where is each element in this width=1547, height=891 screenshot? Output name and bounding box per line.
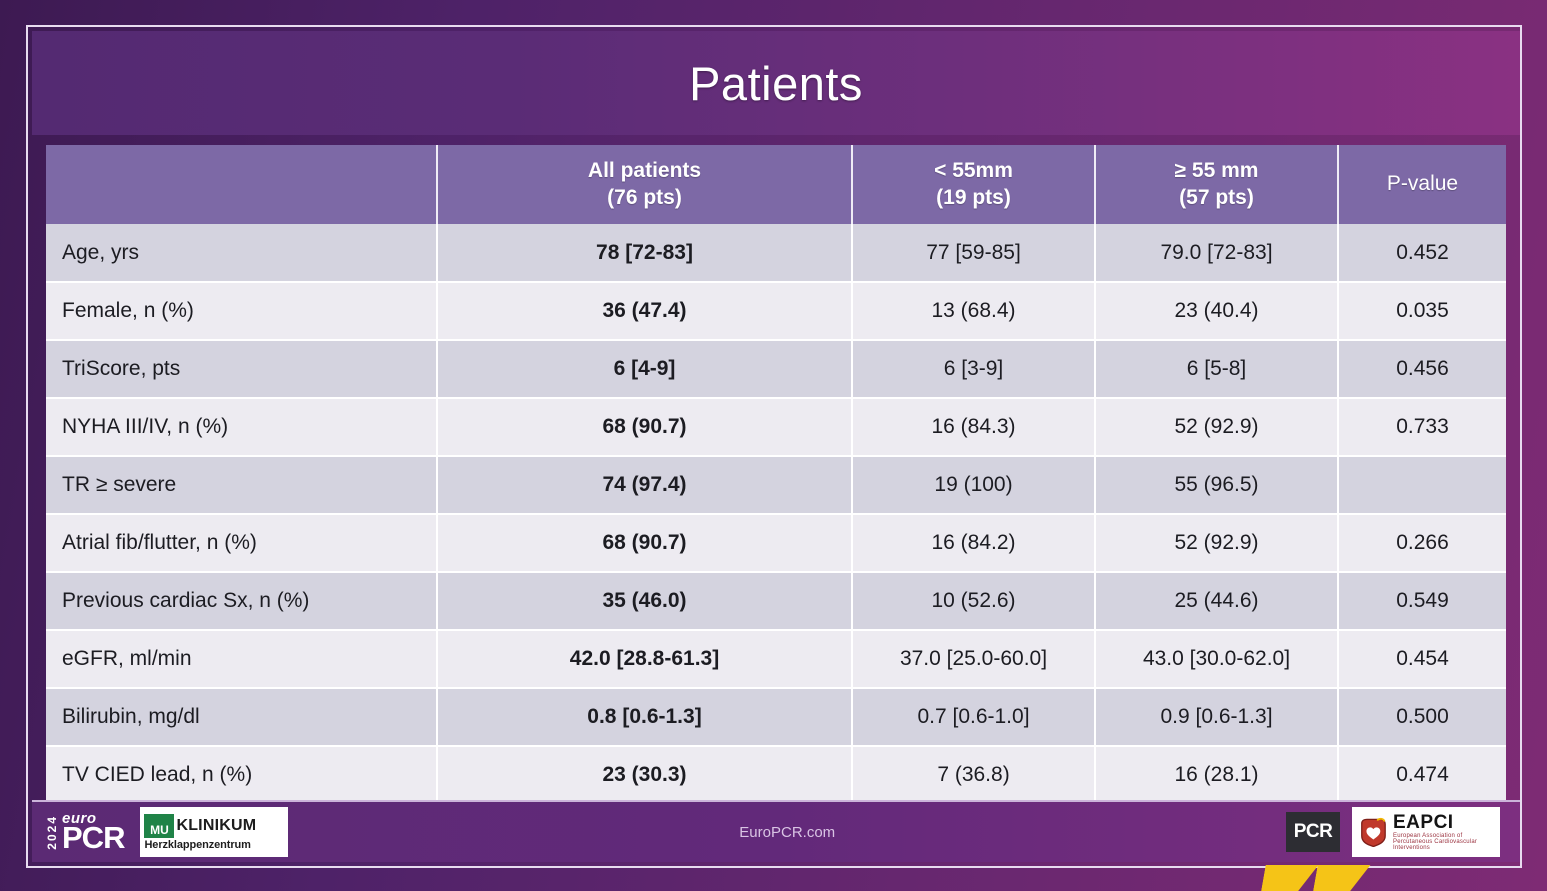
footer-website-url: EuroPCR.com <box>288 824 1286 841</box>
page-title: Patients <box>689 56 863 111</box>
column-header-ge-55mm-label: ≥ 55 mm <box>1096 158 1337 185</box>
column-header-p-value: P-value <box>1338 145 1506 224</box>
row-label: TR ≥ severe <box>46 456 437 514</box>
column-header-ge-55mm-count: (57 pts) <box>1096 185 1337 212</box>
table-row: eGFR, ml/min 42.0 [28.8-61.3] 37.0 [25.0… <box>46 630 1506 688</box>
cell-p-value: 0.266 <box>1338 514 1506 572</box>
cell-p-value: 0.549 <box>1338 572 1506 630</box>
cell-all-patients: 68 (90.7) <box>437 398 852 456</box>
row-label: Atrial fib/flutter, n (%) <box>46 514 437 572</box>
mu-klinikum-label: KLINIKUM <box>176 817 256 835</box>
cell-ge-55mm: 25 (44.6) <box>1095 572 1338 630</box>
cell-p-value: 0.452 <box>1338 224 1506 282</box>
column-header-lt-55mm: < 55mm (19 pts) <box>852 145 1095 224</box>
column-header-all-patients-count: (76 pts) <box>438 185 851 212</box>
eapci-logo-name: EAPCI <box>1393 813 1494 833</box>
row-label: eGFR, ml/min <box>46 630 437 688</box>
cell-ge-55mm: 0.9 [0.6-1.3] <box>1095 688 1338 746</box>
cell-lt-55mm: 19 (100) <box>852 456 1095 514</box>
cell-p-value: 0.474 <box>1338 746 1506 804</box>
cell-lt-55mm: 16 (84.2) <box>852 514 1095 572</box>
cell-lt-55mm: 10 (52.6) <box>852 572 1095 630</box>
table-row: TriScore, pts 6 [4-9] 6 [3-9] 6 [5-8] 0.… <box>46 340 1506 398</box>
row-label: Bilirubin, mg/dl <box>46 688 437 746</box>
column-header-lt-55mm-count: (19 pts) <box>853 185 1094 212</box>
cell-p-value: 0.454 <box>1338 630 1506 688</box>
cell-p-value: 0.500 <box>1338 688 1506 746</box>
cell-lt-55mm: 13 (68.4) <box>852 282 1095 340</box>
mu-square-icon: MU <box>144 814 174 838</box>
row-label: Age, yrs <box>46 224 437 282</box>
eapci-logo-sublabel: European Association of Percutaneous Car… <box>1393 833 1494 852</box>
chevron-shape-icon <box>1312 865 1372 891</box>
cell-all-patients: 74 (97.4) <box>437 456 852 514</box>
eapci-logo: EAPCI European Association of Percutaneo… <box>1352 807 1500 857</box>
row-label: Female, n (%) <box>46 282 437 340</box>
patients-table-container: All patients (76 pts) < 55mm (19 pts) ≥ … <box>46 145 1506 815</box>
europcr-logo: 2024 euro PCR <box>46 809 124 855</box>
table-row: Previous cardiac Sx, n (%) 35 (46.0) 10 … <box>46 572 1506 630</box>
column-header-lt-55mm-label: < 55mm <box>853 158 1094 185</box>
cell-lt-55mm: 16 (84.3) <box>852 398 1095 456</box>
cell-all-patients: 35 (46.0) <box>437 572 852 630</box>
table-row: NYHA III/IV, n (%) 68 (90.7) 16 (84.3) 5… <box>46 398 1506 456</box>
cell-all-patients: 0.8 [0.6-1.3] <box>437 688 852 746</box>
slide-footer: 2024 euro PCR MU KLINIKUM Herzklappenzen… <box>32 800 1520 862</box>
column-header-all-patients: All patients (76 pts) <box>437 145 852 224</box>
table-row: TV CIED lead, n (%) 23 (30.3) 7 (36.8) 1… <box>46 746 1506 804</box>
table-row: Age, yrs 78 [72-83] 77 [59-85] 79.0 [72-… <box>46 224 1506 282</box>
cell-ge-55mm: 23 (40.4) <box>1095 282 1338 340</box>
column-header-ge-55mm: ≥ 55 mm (57 pts) <box>1095 145 1338 224</box>
cell-all-patients: 23 (30.3) <box>437 746 852 804</box>
europcr-logo-pcr: PCR <box>62 825 124 850</box>
cell-ge-55mm: 43.0 [30.0-62.0] <box>1095 630 1338 688</box>
cell-all-patients: 36 (47.4) <box>437 282 852 340</box>
cell-ge-55mm: 52 (92.9) <box>1095 514 1338 572</box>
row-label: Previous cardiac Sx, n (%) <box>46 572 437 630</box>
pcr-badge-logo: PCR <box>1286 812 1340 852</box>
cell-lt-55mm: 7 (36.8) <box>852 746 1095 804</box>
cell-all-patients: 68 (90.7) <box>437 514 852 572</box>
slide-title-band: Patients <box>32 31 1520 135</box>
heart-icon <box>1358 817 1388 847</box>
cell-ge-55mm: 52 (92.9) <box>1095 398 1338 456</box>
column-header-characteristic <box>46 145 437 224</box>
table-row: Female, n (%) 36 (47.4) 13 (68.4) 23 (40… <box>46 282 1506 340</box>
cell-lt-55mm: 77 [59-85] <box>852 224 1095 282</box>
europcr-logo-year: 2024 <box>46 815 58 850</box>
cell-all-patients: 6 [4-9] <box>437 340 852 398</box>
cell-p-value: 0.733 <box>1338 398 1506 456</box>
cell-lt-55mm: 37.0 [25.0-60.0] <box>852 630 1095 688</box>
cell-p-value: 0.456 <box>1338 340 1506 398</box>
presentation-slide: Patients All patients (76 pts) < 5 <box>0 0 1547 891</box>
cell-ge-55mm: 55 (96.5) <box>1095 456 1338 514</box>
cell-p-value <box>1338 456 1506 514</box>
cell-all-patients: 42.0 [28.8-61.3] <box>437 630 852 688</box>
row-label: TriScore, pts <box>46 340 437 398</box>
cell-lt-55mm: 0.7 [0.6-1.0] <box>852 688 1095 746</box>
row-label: TV CIED lead, n (%) <box>46 746 437 804</box>
slide-content-panel: Patients All patients (76 pts) < 5 <box>26 25 1522 868</box>
table-body: Age, yrs 78 [72-83] 77 [59-85] 79.0 [72-… <box>46 224 1506 804</box>
cell-ge-55mm: 6 [5-8] <box>1095 340 1338 398</box>
cell-lt-55mm: 6 [3-9] <box>852 340 1095 398</box>
table-row: TR ≥ severe 74 (97.4) 19 (100) 55 (96.5) <box>46 456 1506 514</box>
table-row: Atrial fib/flutter, n (%) 68 (90.7) 16 (… <box>46 514 1506 572</box>
mu-klinikum-logo: MU KLINIKUM Herzklappenzentrum <box>140 807 288 857</box>
table-row: Bilirubin, mg/dl 0.8 [0.6-1.3] 0.7 [0.6-… <box>46 688 1506 746</box>
patients-table: All patients (76 pts) < 55mm (19 pts) ≥ … <box>46 145 1506 805</box>
decorative-chevron-band <box>0 865 1547 891</box>
eapci-logo-text: EAPCI European Association of Percutaneo… <box>1393 813 1494 852</box>
mu-klinikum-sublabel: Herzklappenzentrum <box>144 839 284 851</box>
europcr-logo-wordmark: euro PCR <box>62 813 124 851</box>
cell-ge-55mm: 16 (28.1) <box>1095 746 1338 804</box>
column-header-all-patients-label: All patients <box>438 158 851 185</box>
chevron-shape-icon <box>1260 865 1320 891</box>
row-label: NYHA III/IV, n (%) <box>46 398 437 456</box>
cell-p-value: 0.035 <box>1338 282 1506 340</box>
cell-ge-55mm: 79.0 [72-83] <box>1095 224 1338 282</box>
table-header-row: All patients (76 pts) < 55mm (19 pts) ≥ … <box>46 145 1506 224</box>
cell-all-patients: 78 [72-83] <box>437 224 852 282</box>
table-header: All patients (76 pts) < 55mm (19 pts) ≥ … <box>46 145 1506 224</box>
mu-klinikum-logo-top: MU KLINIKUM <box>144 814 284 838</box>
